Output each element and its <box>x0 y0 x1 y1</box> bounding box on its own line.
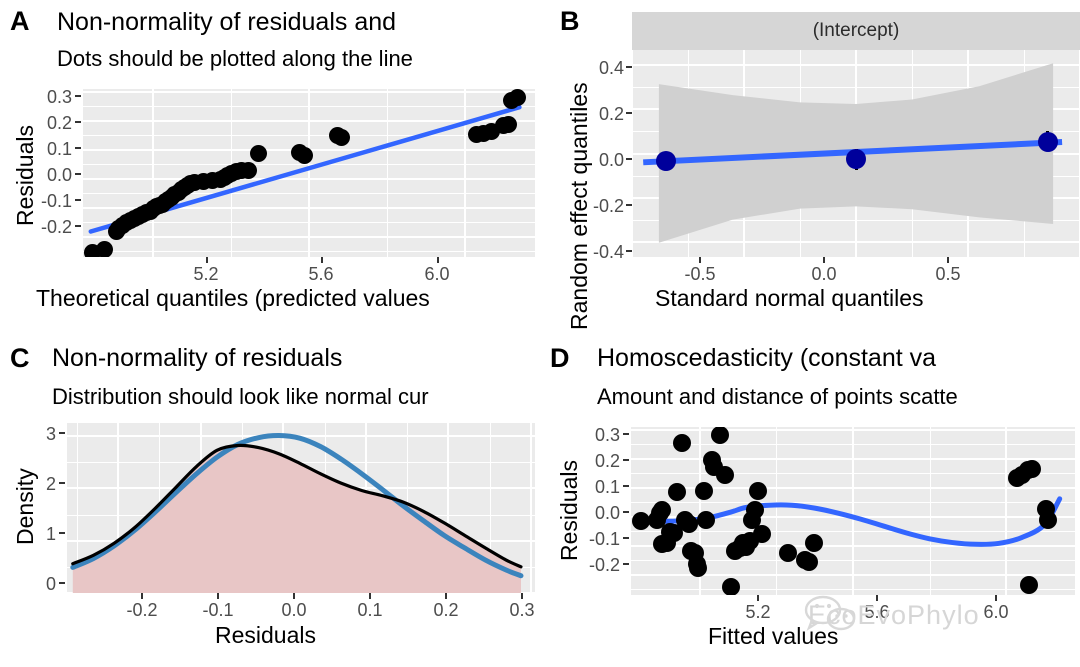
panel-a-plot-area[interactable] <box>83 89 535 257</box>
panel-b-facet-label: (Intercept) <box>813 20 900 42</box>
panel-c-density-fill <box>73 445 521 593</box>
panel-d-ytick-2: 0.1 <box>576 477 620 498</box>
panel-c-ytick-2: 1 <box>28 524 56 545</box>
panel-a-ytick-4: -0.1 <box>28 191 72 212</box>
panel-a-ytick-5: -0.2 <box>28 217 72 238</box>
panel-c-ytick-3: 0 <box>28 574 56 595</box>
panel-c-xtick-5: 0.3 <box>492 600 540 621</box>
panel-c: C Non-normality of residuals Distributio… <box>0 333 540 667</box>
panel-c-plot-area[interactable] <box>67 423 535 593</box>
figure-root: A Non-normality of residuals and Dots sh… <box>0 0 1080 667</box>
panel-d-point-9[interactable] <box>673 434 691 452</box>
panel-c-xtick-2: 0.0 <box>264 600 324 621</box>
panel-b-ytick-0: 0.4 <box>576 58 624 79</box>
panel-b: B Random effect quantiles Standard norma… <box>540 0 1080 333</box>
panel-a-point-35[interactable] <box>250 145 267 162</box>
panel-a-ytickmark-1 <box>75 121 81 123</box>
panel-d-title: Homoscedasticity (constant va <box>597 346 936 371</box>
panel-a-label: A <box>10 8 30 35</box>
panel-b-point-2[interactable] <box>1038 132 1058 152</box>
panel-c-subtitle: Distribution should look like normal cur <box>52 386 429 408</box>
panel-a-xtick-0: 5.2 <box>176 264 236 285</box>
panel-c-ytickmark-0 <box>59 432 65 434</box>
panel-a-ytickmark-2 <box>75 147 81 149</box>
panel-d-point-42[interactable] <box>1039 511 1057 529</box>
panel-a-xtickmark-2 <box>437 257 439 263</box>
panel-b-xtick-1: 0.0 <box>794 264 854 285</box>
panel-d-ytick-1: 0.2 <box>576 451 620 472</box>
panel-a-ytickmark-3 <box>75 173 81 175</box>
panel-a-xtickmark-0 <box>206 257 208 263</box>
panel-a: A Non-normality of residuals and Dots sh… <box>0 0 540 333</box>
panel-a-point-37[interactable] <box>296 147 313 164</box>
panel-a-title: Non-normality of residuals and <box>57 10 396 35</box>
panel-d-point-31[interactable] <box>753 525 771 543</box>
panel-a-xtick-2: 6.0 <box>407 264 467 285</box>
panel-b-plot-area[interactable] <box>632 50 1080 257</box>
panel-b-xtickmark-0 <box>699 257 701 263</box>
panel-d-ytick-3: 0.0 <box>576 503 620 524</box>
panel-d-ytickmark-0 <box>623 433 629 435</box>
panel-c-series-layer <box>67 423 535 593</box>
panel-c-xtick-3: 0.1 <box>340 600 400 621</box>
panel-d-point-17[interactable] <box>697 511 715 529</box>
panel-d-ytick-5: -0.2 <box>576 555 620 576</box>
panel-b-facet-strip: (Intercept) <box>632 12 1080 50</box>
panel-c-ytickmark-3 <box>59 582 65 584</box>
panel-b-ytick-2: 0.0 <box>576 150 624 171</box>
panel-a-point-34[interactable] <box>240 162 257 179</box>
panel-c-xtick-4: 0.2 <box>416 600 476 621</box>
panel-c-xtickmark-2 <box>293 593 295 599</box>
panel-d-point-20[interactable] <box>711 427 729 444</box>
panel-c-xtickmark-3 <box>369 593 371 599</box>
panel-a-ytick-0: 0.3 <box>28 87 72 108</box>
panel-c-xtick-1: -0.1 <box>188 600 248 621</box>
panel-b-xtick-2: 0.5 <box>918 264 978 285</box>
panel-d-ytick-4: -0.1 <box>576 529 620 550</box>
panel-d-ytickmark-4 <box>623 537 629 539</box>
panel-d-xtick-0: 5.2 <box>728 602 788 623</box>
panel-d-point-35[interactable] <box>805 534 823 552</box>
panel-c-xtick-0: -0.2 <box>112 600 172 621</box>
panel-c-label: C <box>10 345 30 372</box>
panel-a-series-layer <box>83 89 535 257</box>
panel-c-xlabel: Residuals <box>215 624 316 647</box>
panel-d-point-21[interactable] <box>716 466 734 484</box>
panel-c-xtickmark-4 <box>445 593 447 599</box>
panel-a-xlabel: Theoretical quantiles (predicted values <box>36 287 430 310</box>
panel-a-ytick-3: 0.0 <box>28 165 72 186</box>
panel-b-xtickmark-1 <box>823 257 825 263</box>
panel-d-ytickmark-3 <box>623 511 629 513</box>
wechat-icon <box>800 592 860 636</box>
panel-d-point-22[interactable] <box>722 578 740 595</box>
panel-d-point-0[interactable] <box>632 512 650 530</box>
panel-d-ytickmark-5 <box>623 563 629 565</box>
panel-b-ytick-1: 0.2 <box>576 104 624 125</box>
panel-a-ytickmark-4 <box>75 199 81 201</box>
panel-d-ytick-0: 0.3 <box>576 425 620 446</box>
panel-b-point-0[interactable] <box>656 151 676 171</box>
panel-c-xtickmark-5 <box>521 593 523 599</box>
panel-c-xtickmark-1 <box>217 593 219 599</box>
panel-a-point-46[interactable] <box>509 89 526 106</box>
panel-c-ytickmark-1 <box>59 482 65 484</box>
panel-c-ytick-1: 2 <box>28 474 56 495</box>
panel-c-ytick-0: 3 <box>28 424 56 445</box>
panel-d-xtickmark-2 <box>995 595 997 601</box>
panel-d-subtitle: Amount and distance of points scatte <box>597 386 958 408</box>
panel-d-label: D <box>550 345 570 372</box>
panel-d-plot-area[interactable] <box>631 427 1075 595</box>
panel-a-ytickmark-5 <box>75 225 81 227</box>
panel-a-ytick-2: 0.1 <box>28 139 72 160</box>
panel-a-xtickmark-1 <box>321 257 323 263</box>
panel-d-ytickmark-1 <box>623 459 629 461</box>
panel-d-point-29[interactable] <box>746 501 764 519</box>
panel-b-xtickmark-2 <box>947 257 949 263</box>
panel-a-subtitle: Dots should be plotted along the line <box>57 48 413 70</box>
panel-b-ytick-3: -0.2 <box>576 196 624 217</box>
panel-b-ytick-4: -0.4 <box>576 242 624 263</box>
panel-d-ytickmark-2 <box>623 485 629 487</box>
panel-d-xtickmark-0 <box>757 595 759 601</box>
panel-a-ytickmark-0 <box>75 95 81 97</box>
panel-b-label: B <box>560 8 580 35</box>
panel-b-xtick-0: -0.5 <box>670 264 730 285</box>
panel-d-point-8[interactable] <box>668 483 686 501</box>
panel-a-ytick-1: 0.2 <box>28 113 72 134</box>
panel-c-title: Non-normality of residuals <box>52 346 342 371</box>
panel-b-xlabel: Standard normal quantiles <box>655 287 924 310</box>
panel-a-xtick-1: 5.6 <box>291 264 351 285</box>
panel-a-point-1[interactable] <box>96 241 113 257</box>
panel-c-ytickmark-2 <box>59 532 65 534</box>
panel-c-xtickmark-0 <box>141 593 143 599</box>
